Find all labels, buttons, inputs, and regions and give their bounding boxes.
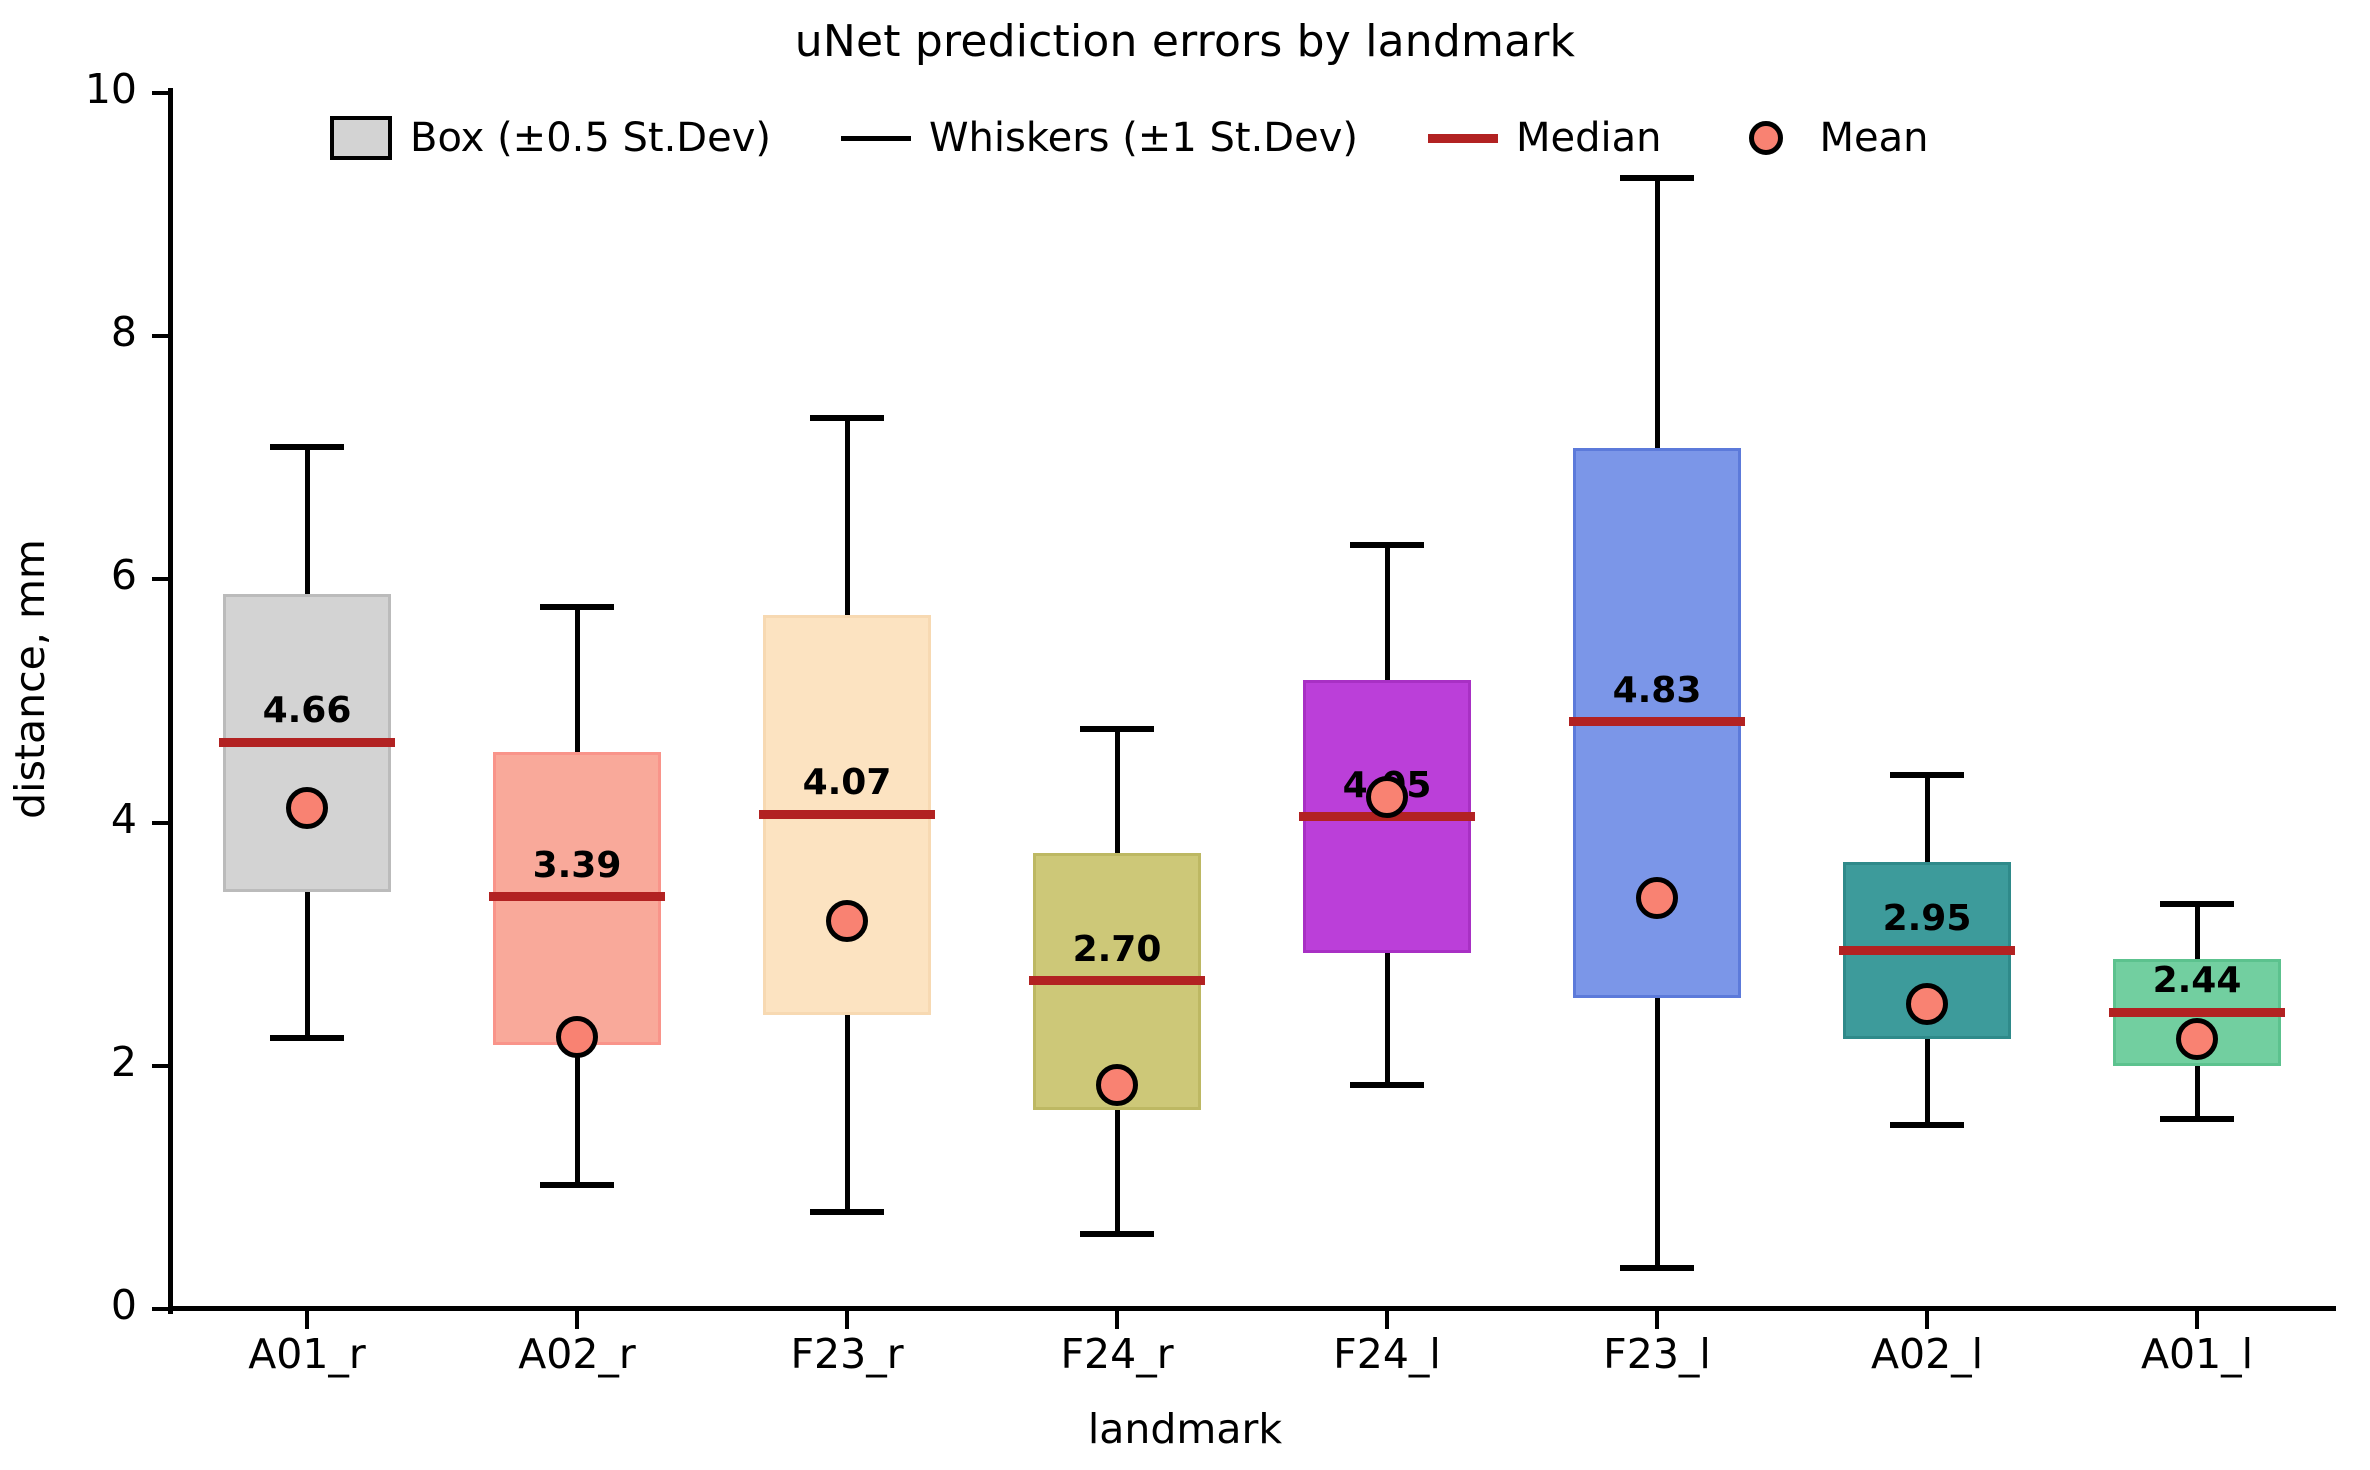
x-axis-label: landmark	[0, 1405, 2370, 1453]
mean-marker[interactable]	[1366, 776, 1408, 818]
median-line	[2109, 1008, 2284, 1017]
y-axis-label: distance, mm	[6, 279, 54, 1079]
x-tick-mark	[1385, 1311, 1389, 1329]
whisker-upper	[845, 418, 850, 615]
whisker-cap-upper	[1890, 772, 1964, 778]
y-tick-label: 2	[17, 1038, 137, 1086]
x-tick-label-f24_l: F24_l	[1257, 1330, 1517, 1378]
whisker-lower	[1115, 1110, 1120, 1234]
whisker-cap-lower	[1890, 1122, 1964, 1128]
legend-label: Whiskers (±1 St.Dev)	[929, 115, 1358, 161]
whisker-upper	[1385, 545, 1390, 680]
x-tick-mark	[2195, 1311, 2199, 1329]
whisker-cap-upper	[270, 444, 344, 450]
whisker-cap-upper	[1620, 175, 1694, 181]
y-tick-mark	[152, 334, 170, 338]
whisker-cap-lower	[2160, 1116, 2234, 1122]
whisker-cap-upper	[1350, 542, 1424, 548]
whisker-cap-upper	[810, 415, 884, 421]
x-tick-mark	[1925, 1311, 1929, 1329]
whisker-upper	[2195, 904, 2200, 959]
whisker-upper	[305, 447, 310, 594]
legend-item-1[interactable]: Whiskers (±1 St.Dev)	[841, 115, 1358, 161]
boxplot-figure: uNet prediction errors by landmark dista…	[0, 0, 2370, 1470]
x-tick-mark	[1655, 1311, 1659, 1329]
mean-marker[interactable]	[286, 787, 328, 829]
x-tick-label-f23_l: F23_l	[1527, 1330, 1787, 1378]
x-tick-mark	[845, 1311, 849, 1329]
whisker-cap-lower	[1350, 1082, 1424, 1088]
box-swatch-icon	[330, 116, 392, 160]
legend-label: Median	[1516, 115, 1662, 161]
median-line-icon	[1428, 134, 1498, 143]
y-tick-mark	[152, 577, 170, 581]
whisker-upper	[1925, 775, 1930, 861]
median-value-label: 4.83	[1507, 670, 1807, 711]
median-line	[1569, 717, 1744, 726]
y-tick-label: 10	[17, 65, 137, 113]
whisker-upper	[1115, 729, 1120, 853]
whisker-lower	[305, 892, 310, 1038]
median-line	[1839, 946, 2014, 955]
whisker-cap-lower	[1620, 1265, 1694, 1271]
legend-label: Mean	[1819, 115, 1928, 161]
x-tick-mark	[1115, 1311, 1119, 1329]
legend-item-2[interactable]: Median	[1428, 115, 1662, 161]
mean-marker[interactable]	[1906, 983, 1948, 1025]
x-tick-label-a02_r: A02_r	[447, 1330, 707, 1378]
legend-item-0[interactable]: Box (±0.5 St.Dev)	[330, 115, 771, 161]
whisker-upper	[1655, 178, 1660, 448]
whisker-lower	[1385, 953, 1390, 1086]
median-value-label: 3.39	[427, 845, 727, 886]
y-tick-mark	[152, 1307, 170, 1311]
x-tick-label-a02_l: A02_l	[1797, 1330, 2057, 1378]
chart-legend: Box (±0.5 St.Dev)Whiskers (±1 St.Dev)Med…	[330, 115, 1998, 161]
legend-item-3[interactable]: Mean	[1731, 115, 1928, 161]
y-tick-mark	[152, 821, 170, 825]
x-tick-mark	[575, 1311, 579, 1329]
x-tick-label-f24_r: F24_r	[987, 1330, 1247, 1378]
mean-marker[interactable]	[2176, 1018, 2218, 1060]
x-axis-spine	[168, 1306, 2336, 1311]
median-value-label: 2.70	[967, 929, 1267, 970]
mean-marker[interactable]	[556, 1016, 598, 1058]
legend-label: Box (±0.5 St.Dev)	[410, 115, 771, 161]
whisker-lower	[1655, 998, 1660, 1268]
whisker-cap-upper	[1080, 726, 1154, 732]
whisker-lower	[2195, 1066, 2200, 1120]
median-value-label: 2.95	[1777, 898, 2077, 939]
whisker-cap-upper	[2160, 901, 2234, 907]
y-tick-mark	[152, 1064, 170, 1068]
mean-marker[interactable]	[1096, 1064, 1138, 1106]
median-line	[1029, 976, 1204, 985]
y-tick-label: 6	[17, 551, 137, 599]
whisker-cap-lower	[810, 1209, 884, 1215]
page-title: uNet prediction errors by landmark	[0, 16, 2370, 67]
y-tick-mark	[152, 91, 170, 95]
median-value-label: 2.44	[2047, 960, 2347, 1001]
whisker-cap-lower	[1080, 1231, 1154, 1237]
y-tick-label: 4	[17, 795, 137, 843]
mean-marker[interactable]	[1636, 877, 1678, 919]
whisker-cap-lower	[270, 1035, 344, 1041]
median-value-label: 4.66	[157, 690, 457, 731]
whisker-lower	[1925, 1039, 1930, 1125]
mean-circle-icon	[1749, 121, 1783, 155]
median-line	[759, 810, 934, 819]
whisker-cap-lower	[540, 1182, 614, 1188]
x-tick-mark	[305, 1311, 309, 1329]
x-tick-label-f23_r: F23_r	[717, 1330, 977, 1378]
whisker-cap-upper	[540, 604, 614, 610]
whisker-upper	[575, 607, 580, 752]
y-tick-label: 0	[17, 1281, 137, 1329]
x-tick-label-a01_l: A01_l	[2067, 1330, 2327, 1378]
y-tick-label: 8	[17, 308, 137, 356]
median-line	[489, 892, 664, 901]
mean-marker[interactable]	[826, 900, 868, 942]
median-line	[219, 738, 394, 747]
whisker-lower	[845, 1015, 850, 1212]
whisker-lower	[575, 1045, 580, 1185]
median-value-label: 4.07	[697, 762, 997, 803]
whisker-line-icon	[841, 136, 911, 141]
x-tick-label-a01_r: A01_r	[177, 1330, 437, 1378]
